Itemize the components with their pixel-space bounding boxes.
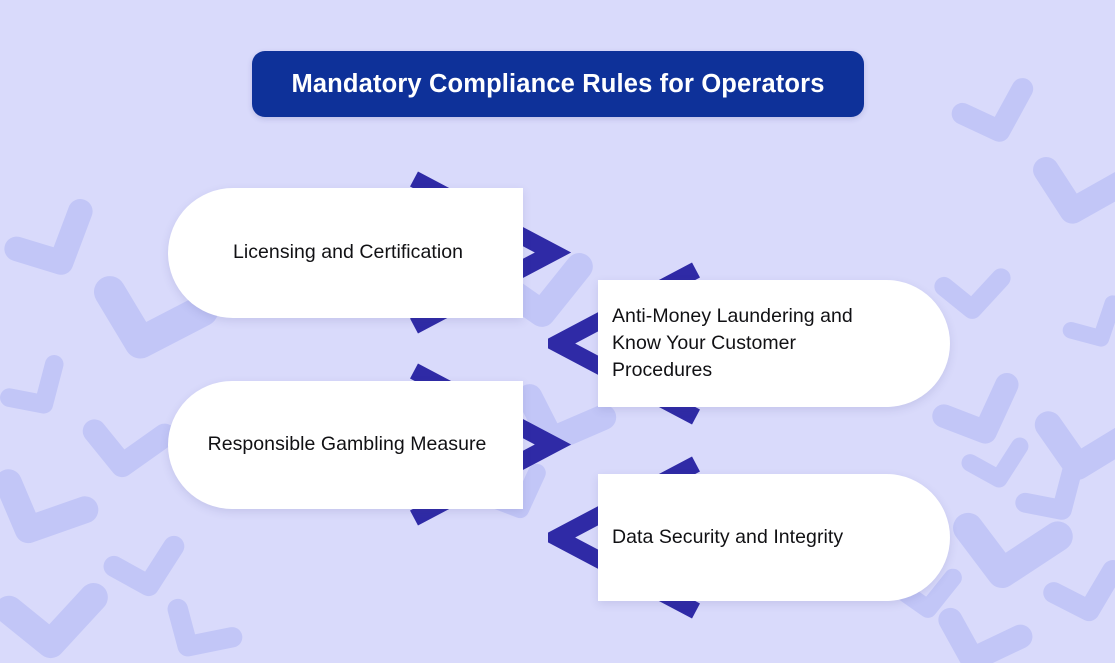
card-data-security-and-integrity[interactable]: Data Security and Integrity: [548, 456, 952, 619]
page-title-bar: Mandatory Compliance Rules for Operators: [252, 51, 864, 117]
card-label: Data Security and Integrity: [612, 456, 932, 619]
card-label: Licensing and Certification: [188, 170, 508, 335]
card-aml-kyc-procedures[interactable]: Anti-Money Laundering and Know Your Cust…: [548, 262, 952, 425]
card-responsible-gambling-measure[interactable]: Responsible Gambling Measure: [168, 363, 578, 526]
page-title: Mandatory Compliance Rules for Operators: [291, 70, 824, 99]
card-label: Responsible Gambling Measure: [182, 363, 512, 526]
card-label: Anti-Money Laundering and Know Your Cust…: [612, 262, 932, 425]
infographic-canvas: Mandatory Compliance Rules for Operators…: [0, 0, 1115, 663]
card-licensing-and-certification[interactable]: Licensing and Certification: [168, 170, 578, 335]
